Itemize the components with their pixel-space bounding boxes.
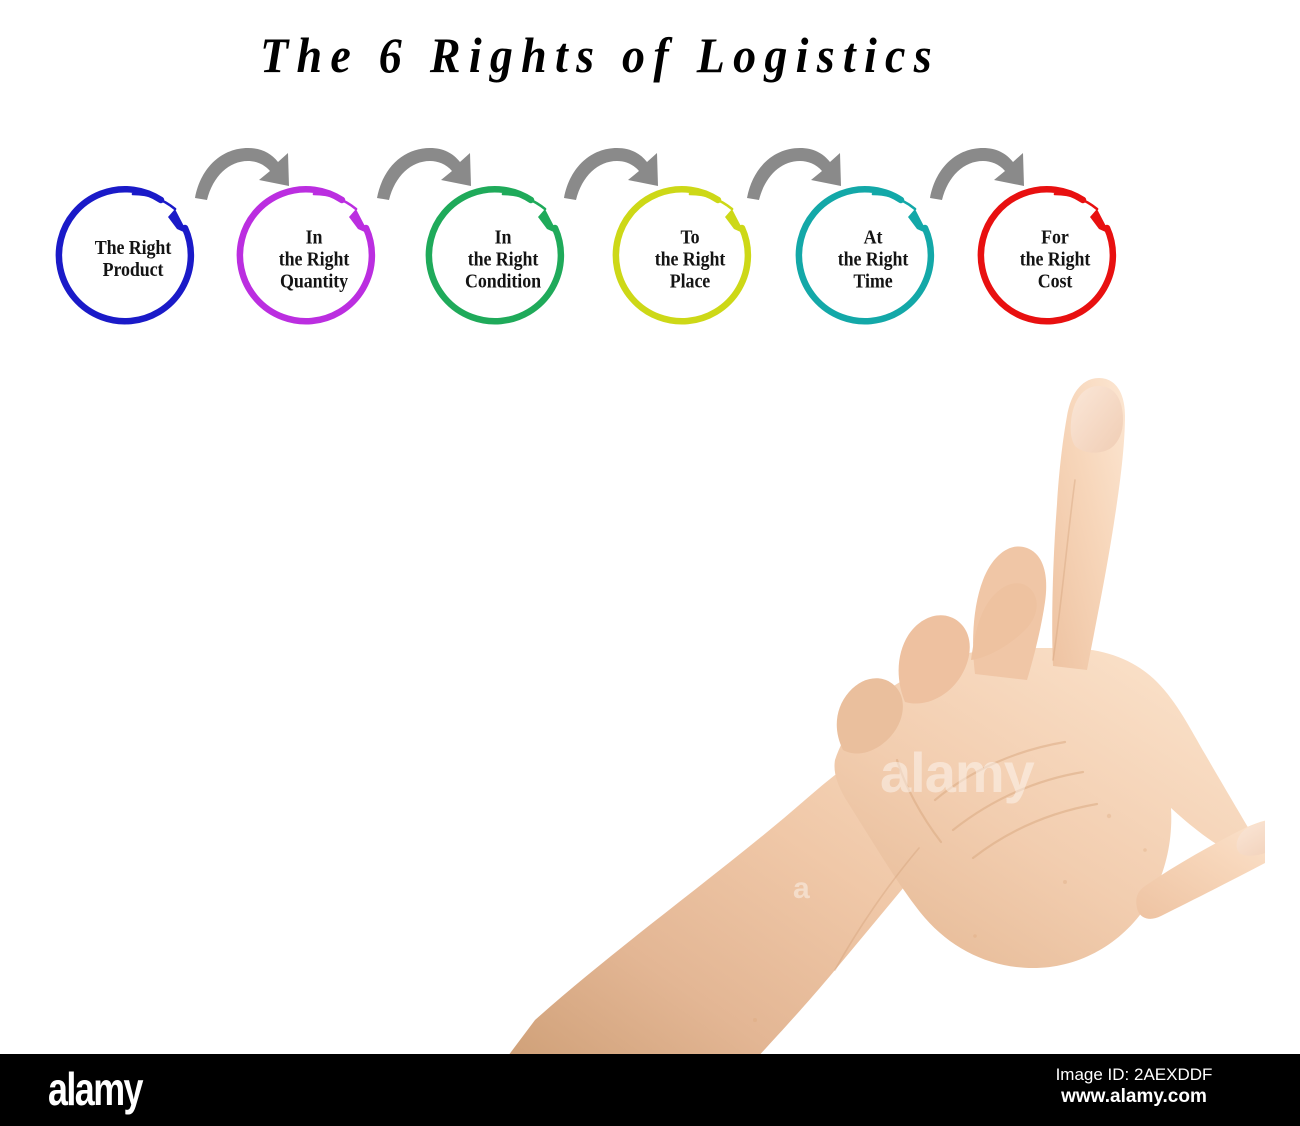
alamy-url-text: www.alamy.com — [1004, 1085, 1264, 1109]
process-step-4[interactable]: To the Right Place — [614, 184, 766, 336]
process-step-2[interactable]: In the Right Quantity — [238, 184, 390, 336]
artboard: The 6 Rights of Logistics — [0, 0, 1300, 1054]
process-step-6[interactable]: For the Right Cost — [979, 184, 1131, 336]
process-step-3[interactable]: In the Right Condition — [427, 184, 579, 336]
alamy-footer-bar: alamy Image ID: 2AEXDDF www.alamy.com — [0, 1054, 1300, 1126]
footer-credit: Image ID: 2AEXDDF www.alamy.com — [1004, 1064, 1264, 1109]
process-step-1[interactable]: The Right Product — [57, 184, 209, 336]
hand-photo — [505, 330, 1265, 1054]
process-step-5[interactable]: At the Right Time — [797, 184, 949, 336]
image-id-text: Image ID: 2AEXDDF — [1004, 1064, 1264, 1085]
alamy-logo: alamy — [48, 1062, 142, 1116]
